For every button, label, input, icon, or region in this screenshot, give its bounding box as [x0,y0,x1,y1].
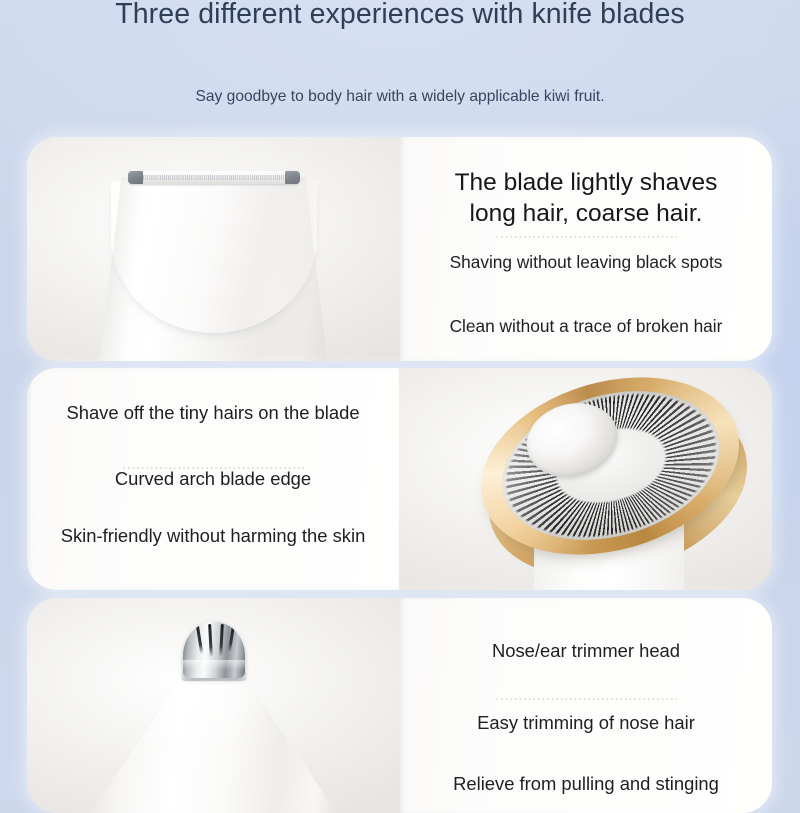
feature-text-blade: The blade lightly shaves long hair, coar… [400,137,772,361]
dotted-divider [495,236,677,238]
tip-slot [227,624,234,652]
page-title: Three different experiences with knife b… [0,0,800,31]
card-heading-line-1: The blade lightly shaves [400,167,772,198]
header: Three different experiences with knife b… [0,0,800,130]
blade-strip [129,171,299,184]
feature-text-nose: Nose/ear trimmer head Easy trimming of n… [400,598,772,813]
blade-end-cap-right [285,171,300,184]
nose-ear-trimmer-head-icon [89,610,339,813]
chrome-bullet-tip [183,622,245,678]
tip-slot [208,624,212,657]
blade-end-cap-left [128,171,143,184]
product-image-straight-blade-trimmer-head [27,137,400,361]
card-feature-line-2: Clean without a trace of broken hair [400,316,772,337]
feature-text-rotary: Shave off the tiny hairs on the blade Cu… [27,368,399,590]
card-feature-line-1: Shave off the tiny hairs on the blade [27,402,399,424]
card-feature-line-3: Skin-friendly without harming the skin [27,525,399,547]
tip-slot [219,624,223,656]
card-feature-line-1: Easy trimming of nose hair [400,712,772,734]
body-shading [99,177,329,361]
card-feature-line-1: Shaving without leaving black spots [400,252,772,273]
card-heading-line-2: long hair, coarse hair. [400,198,772,229]
card-feature-line-2: Relieve from pulling and stinging [400,773,772,795]
tip-slot [195,624,202,654]
straight-blade-trimmer-head-icon [99,171,329,361]
feature-card-rotary: Shave off the tiny hairs on the blade Cu… [27,368,772,590]
card-heading: Nose/ear trimmer head [400,640,772,662]
gold-rotary-foil-shaver-head-icon [460,370,760,590]
card-feature-line-2: Curved arch blade edge [27,468,399,490]
dotted-divider [495,698,677,700]
blade-teeth [141,175,287,180]
feature-card-nose: Nose/ear trimmer head Easy trimming of n… [27,598,772,813]
product-image-nose-ear-trimmer-head [27,598,400,813]
tip-reflection-band [183,660,245,670]
product-image-gold-rotary-foil-shaver-head [399,368,772,590]
cone-highlight [89,668,339,813]
feature-card-blade: The blade lightly shaves long hair, coar… [27,137,772,361]
page-subtitle: Say goodbye to body hair with a widely a… [0,88,800,106]
